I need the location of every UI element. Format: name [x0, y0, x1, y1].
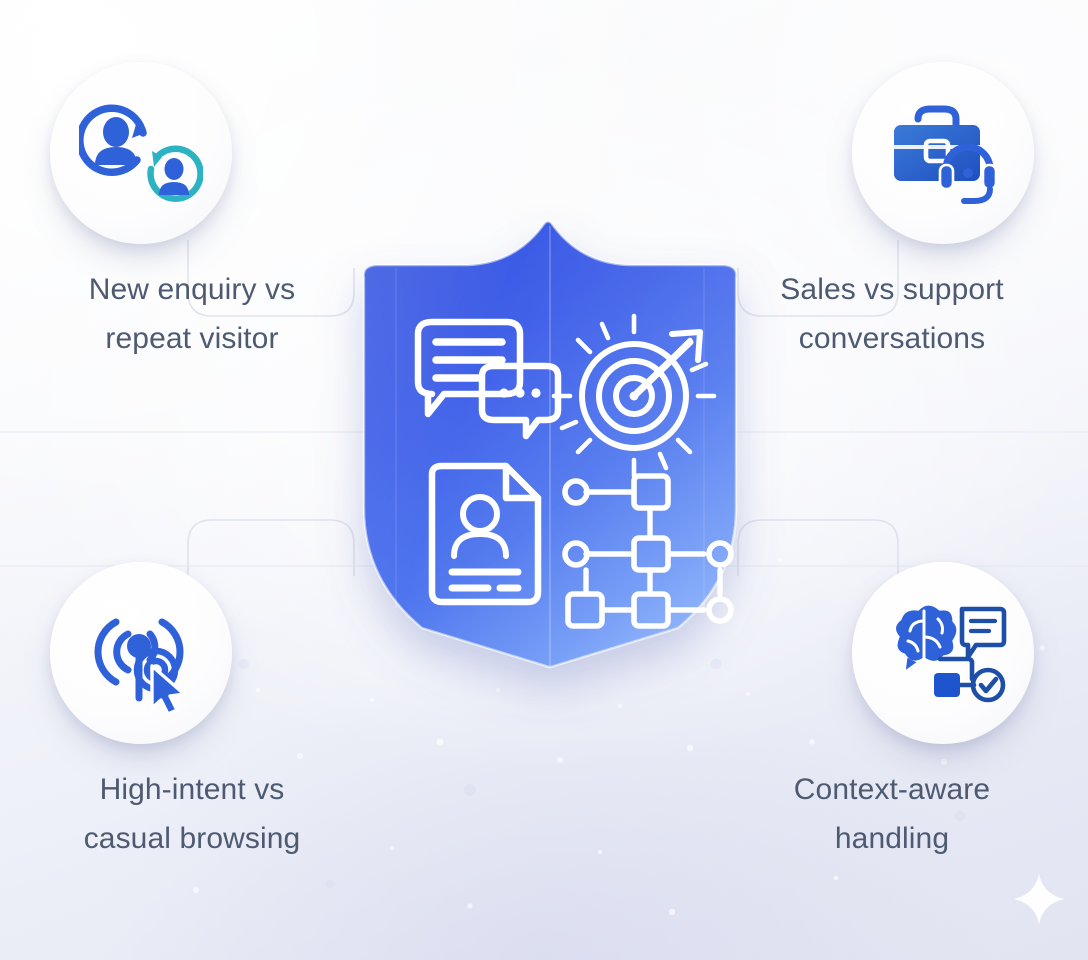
signal-cursor-click-icon: [82, 594, 200, 712]
infographic-canvas: New enquiry vs repeat visitor: [0, 0, 1088, 960]
briefcase-headset-icon: [880, 97, 1006, 209]
icon-bubble: [852, 62, 1034, 244]
feature-node-context-aware-handling[interactable]: Context-aware handling: [742, 562, 1042, 863]
icon-bubble: [50, 562, 232, 744]
feature-node-new-enquiry-vs-repeat-visitor[interactable]: New enquiry vs repeat visitor: [42, 62, 342, 363]
feature-label-line1: Sales vs support: [742, 266, 1042, 315]
shield-badge: [348, 208, 752, 678]
feature-label-line1: Context-aware: [742, 766, 1042, 815]
feature-label: Sales vs support conversations: [742, 266, 1042, 363]
icon-bubble: [50, 62, 232, 244]
feature-label: High-intent vs casual browsing: [42, 766, 342, 863]
returning-visitor-icon: [79, 97, 203, 209]
feature-label-line1: High-intent vs: [42, 766, 342, 815]
feature-label-line2: handling: [742, 815, 1042, 864]
feature-label: New enquiry vs repeat visitor: [42, 266, 342, 363]
feature-label-line2: conversations: [742, 315, 1042, 364]
feature-label-line2: repeat visitor: [42, 315, 342, 364]
feature-node-sales-vs-support-conversations[interactable]: Sales vs support conversations: [742, 62, 1042, 363]
feature-label-line1: New enquiry vs: [42, 266, 342, 315]
four-point-sparkle-icon: [1012, 872, 1066, 926]
icon-bubble: [852, 562, 1034, 744]
brain-chat-flow-icon: [878, 597, 1008, 709]
feature-label-line2: casual browsing: [42, 815, 342, 864]
flow-block: [934, 673, 960, 697]
feature-node-high-intent-vs-casual-browsing[interactable]: High-intent vs casual browsing: [42, 562, 342, 863]
feature-label: Context-aware handling: [742, 766, 1042, 863]
